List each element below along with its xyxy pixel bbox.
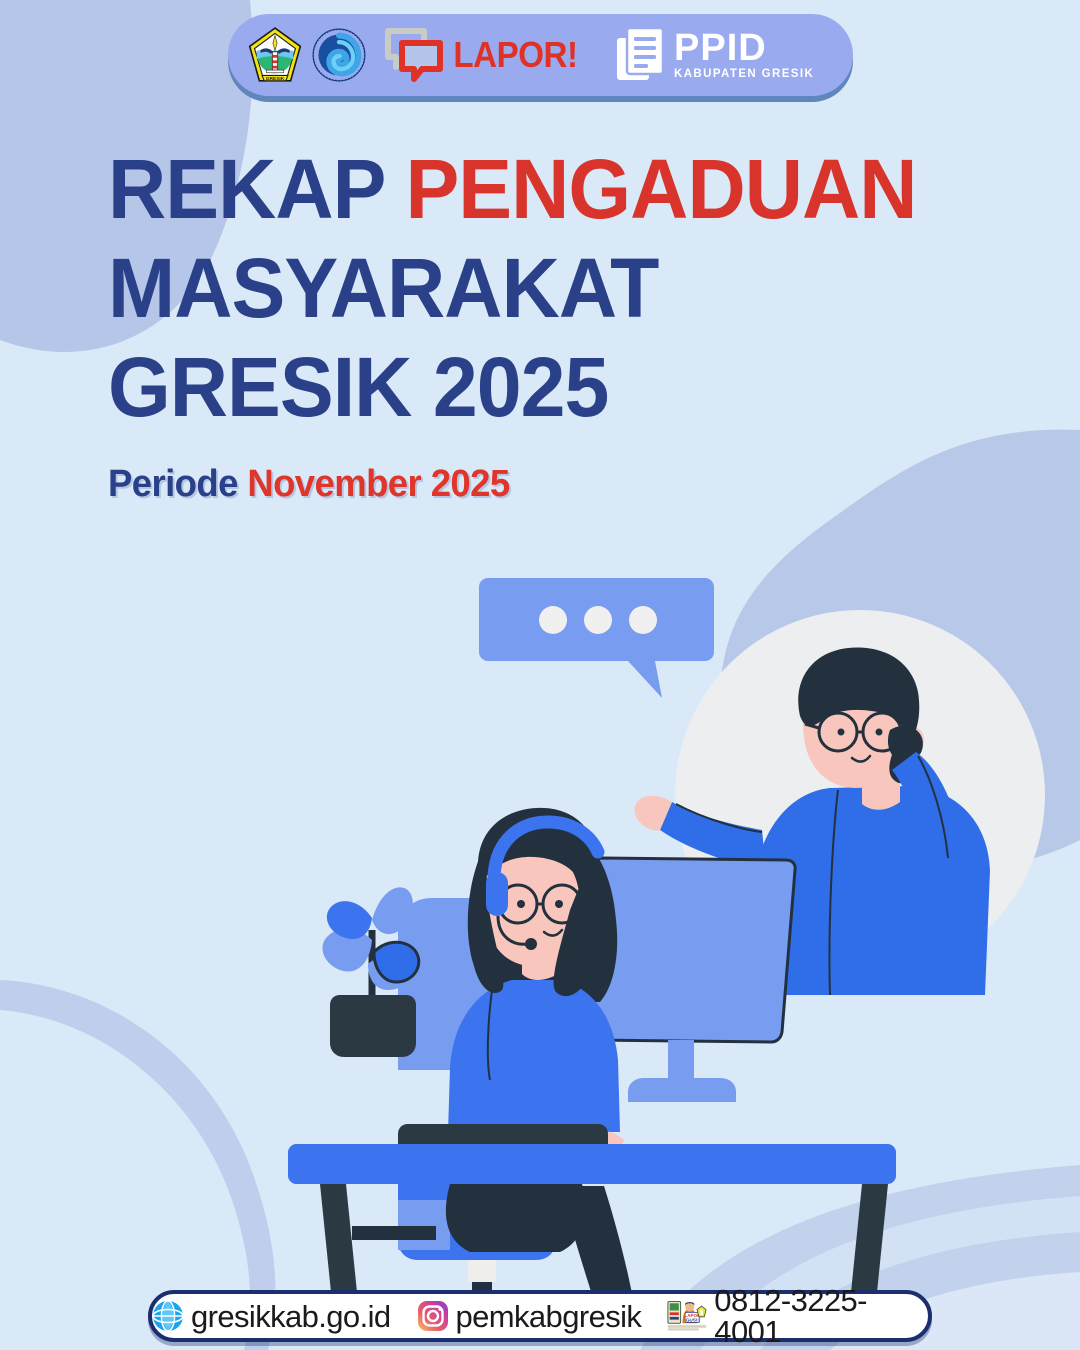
logo-bar: GRESIK LAPOR!: [228, 14, 853, 96]
subtitle-label: Periode: [108, 463, 247, 505]
headline-block: REKAP PENGADUAN MASYARAKAT GRESIK 2025 P…: [108, 140, 1008, 506]
lapor-gus-badge-icon: LAPOR GUS!!: [667, 1300, 707, 1332]
ppid-label: PPID: [674, 30, 814, 66]
subtitle-periode: Periode November 2025: [108, 463, 972, 506]
website-text: gresikkab.go.id: [191, 1301, 391, 1332]
footer-contact-bar: gresikkab.go.id pemkabgresik: [148, 1290, 932, 1342]
globe-icon: [152, 1300, 184, 1332]
ppid-sublabel: KABUPATEN GRESIK: [674, 69, 814, 81]
customer-service-illustration: [0, 540, 1080, 1300]
svg-text:GRESIK: GRESIK: [266, 76, 285, 82]
subtitle-value: November 2025: [247, 463, 509, 505]
title-line-2: MASYARAKAT: [108, 239, 972, 338]
diskominfo-wave-icon: [312, 27, 366, 83]
lapor-speech-bubble-icon: LAPOR!: [384, 27, 583, 83]
instagram-text: pemkabgresik: [456, 1301, 642, 1332]
poster-canvas: GRESIK LAPOR!: [0, 0, 1080, 1350]
gresik-regency-emblem-icon: GRESIK: [248, 27, 302, 83]
title-line-3: GRESIK 2025: [108, 338, 972, 437]
svg-text:GUS!!: GUS!!: [686, 1317, 699, 1322]
footer-website[interactable]: gresikkab.go.id: [152, 1300, 391, 1332]
instagram-icon: [417, 1300, 449, 1332]
footer-whatsapp[interactable]: LAPOR GUS!! 0812-3225-4001: [667, 1285, 928, 1347]
title-line-1: REKAP PENGADUAN: [108, 140, 972, 239]
keyboard-icon: [398, 1124, 608, 1146]
chat-typing-bubble-icon: [479, 578, 714, 698]
ppid-document-icon: PPID KABUPATEN GRESIK: [615, 26, 814, 84]
title-rekap: REKAP: [108, 142, 405, 236]
whatsapp-text: 0812-3225-4001: [714, 1285, 928, 1347]
footer-instagram[interactable]: pemkabgresik: [417, 1300, 642, 1332]
potted-plant-icon: [322, 887, 418, 1057]
lapor-label: LAPOR!: [453, 37, 577, 73]
title-pengaduan: PENGADUAN: [405, 142, 916, 236]
